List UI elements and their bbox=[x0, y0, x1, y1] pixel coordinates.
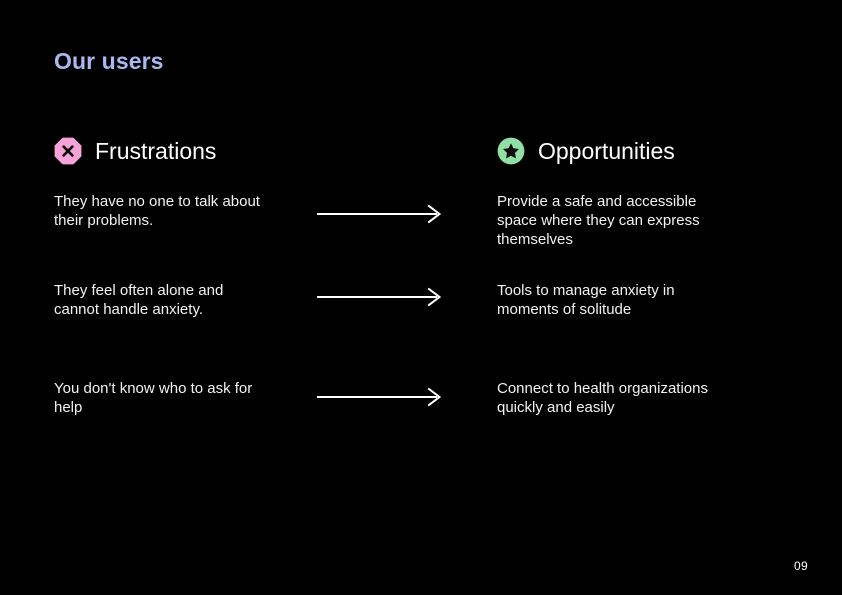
frustration-text: They have no one to talk about their pro… bbox=[54, 192, 269, 230]
page-number: 09 bbox=[794, 559, 808, 573]
opportunity-text: Connect to health organizations quickly … bbox=[497, 379, 712, 417]
frustration-text: They feel often alone and cannot handle … bbox=[54, 281, 269, 319]
slide: Our users Frustrations Opportunities The… bbox=[0, 0, 842, 595]
comparison-rows: They have no one to talk about their pro… bbox=[0, 0, 842, 595]
arrow-right-icon bbox=[317, 286, 443, 308]
arrow-right-icon bbox=[317, 386, 443, 408]
opportunity-text: Provide a safe and accessible space wher… bbox=[497, 192, 712, 250]
opportunity-text: Tools to manage anxiety in moments of so… bbox=[497, 281, 712, 319]
frustration-text: You don't know who to ask for help bbox=[54, 379, 269, 417]
arrow-right-icon bbox=[317, 203, 443, 225]
